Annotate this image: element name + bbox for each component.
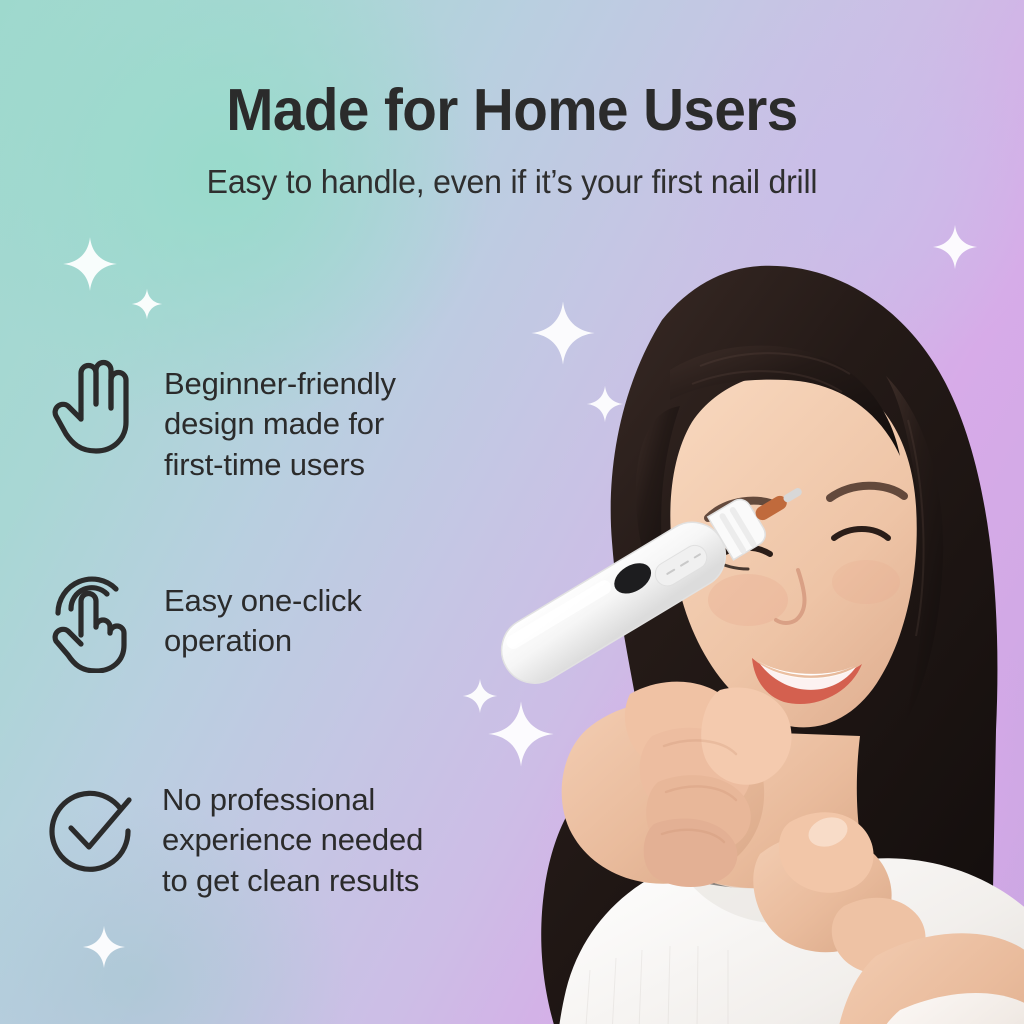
feature-item-beginner-friendly: Beginner-friendly design made for first-… <box>46 358 396 485</box>
sparkle-icon <box>62 236 118 292</box>
feature-item-no-experience: No professional experience needed to get… <box>44 778 423 901</box>
sparkle-icon <box>82 925 126 969</box>
promo-banner: Made for Home Users Easy to handle, even… <box>0 0 1024 1024</box>
feature-item-one-click: Easy one-click operation <box>46 575 362 675</box>
feature-label: No professional experience needed to get… <box>162 778 423 901</box>
model-photo <box>430 170 1024 1024</box>
feature-label: Beginner-friendly design made for first-… <box>164 358 396 485</box>
sparkle-icon <box>131 288 163 320</box>
feature-label: Easy one-click operation <box>164 575 362 662</box>
page-title: Made for Home Users <box>20 80 1003 141</box>
tap-gesture-icon <box>46 575 142 675</box>
open-hand-icon <box>46 358 142 458</box>
check-circle-icon <box>44 778 140 878</box>
page-subtitle: Easy to handle, even if it’s your first … <box>15 163 1008 202</box>
